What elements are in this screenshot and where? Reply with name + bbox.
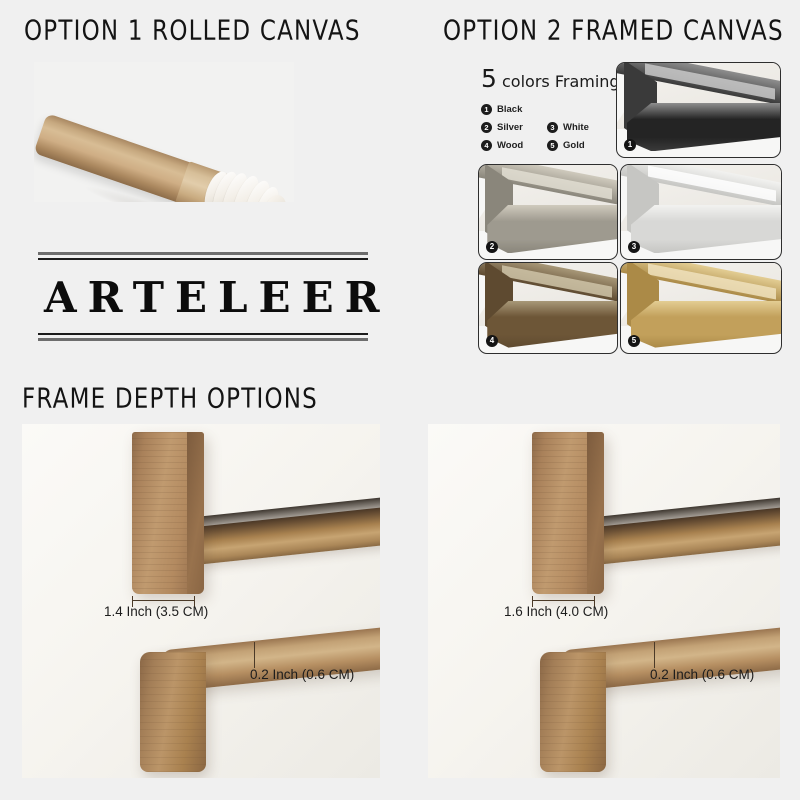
framing-color-legend: 5 colors Framing 1 Black 2 Silver 3 Whit… (481, 64, 606, 151)
depth-thickness-label: 0.2 Inch (0.6 CM) (650, 667, 754, 682)
depth-profile-label: 1.6 Inch (4.0 CM) (504, 604, 608, 619)
frame-swatch-gold[interactable]: 5 (620, 262, 782, 354)
legend-label: Silver (497, 122, 523, 133)
number-badge-icon: 4 (481, 140, 492, 151)
number-badge-icon: 2 (481, 122, 492, 133)
number-badge-icon: 5 (547, 140, 558, 151)
frame-stile-edge (587, 432, 604, 594)
shipping-tube (34, 89, 294, 202)
option-2-heading: OPTION 2 FRAMED CANVAS (443, 16, 784, 47)
option-1-heading: OPTION 1 ROLLED CANVAS (24, 16, 361, 47)
number-badge-icon: 2 (486, 241, 498, 253)
number-badge-icon: 3 (547, 122, 558, 133)
legend-item-black: 1 Black (481, 104, 533, 115)
frame-depth-photo-left: 1.4 Inch (3.5 CM) 0.2 Inch (0.6 CM) (22, 424, 380, 778)
legend-row: 2 Silver 3 White (481, 122, 606, 133)
number-badge-icon: 5 (628, 335, 640, 347)
frame-corner-illustration (479, 263, 617, 353)
depth-thickness-label: 0.2 Inch (0.6 CM) (250, 667, 354, 682)
number-badge-icon: 1 (624, 139, 636, 151)
depth-caliper-profile (532, 600, 595, 601)
legend-row: 4 Wood 5 Gold (481, 140, 606, 151)
brand-name: ARTELEER (38, 260, 368, 333)
legend-label: Gold (563, 140, 585, 151)
frame-lower-cap (140, 652, 206, 772)
legend-words: colors Framing (502, 72, 620, 91)
legend-label: Black (497, 104, 522, 115)
frame-swatch-silver[interactable]: 2 (478, 164, 618, 260)
number-badge-icon: 3 (628, 241, 640, 253)
frame-depth-heading: FRAME DEPTH OPTIONS (22, 384, 318, 415)
frame-corner-illustration (617, 63, 780, 157)
depth-profile-label: 1.4 Inch (3.5 CM) (104, 604, 208, 619)
rolled-canvas-sheet (197, 161, 294, 202)
rolled-canvas-photo (34, 62, 294, 202)
legend-item-silver: 2 Silver (481, 122, 533, 133)
legend-item-gold: 5 Gold (547, 140, 599, 151)
legend-item-white: 3 White (547, 122, 599, 133)
legend-title: 5 colors Framing (481, 64, 606, 93)
legend-label: Wood (497, 140, 523, 151)
frame-swatch-black[interactable]: 1 (616, 62, 781, 158)
frame-corner-illustration (479, 165, 617, 259)
frame-swatch-wood[interactable]: 4 (478, 262, 618, 354)
number-badge-icon: 1 (481, 104, 492, 115)
frame-corner-illustration (621, 263, 781, 353)
depth-tick-thickness (654, 642, 655, 668)
number-badge-icon: 4 (486, 335, 498, 347)
logo-rule-top (38, 252, 368, 260)
frame-swatch-white[interactable]: 3 (620, 164, 782, 260)
frame-lower-cap (540, 652, 606, 772)
depth-tick-thickness (254, 642, 255, 668)
legend-item-wood: 4 Wood (481, 140, 533, 151)
frame-corner-illustration (621, 165, 781, 259)
legend-label: White (563, 122, 589, 133)
legend-row: 1 Black (481, 104, 606, 115)
depth-caliper-profile (132, 600, 195, 601)
logo-rule-bottom (38, 333, 368, 341)
legend-count: 5 (481, 64, 497, 93)
brand-logo: ARTELEER (38, 252, 368, 341)
frame-stile-edge (187, 432, 204, 594)
frame-depth-photo-right: 1.6 Inch (4.0 CM) 0.2 Inch (0.6 CM) (428, 424, 780, 778)
